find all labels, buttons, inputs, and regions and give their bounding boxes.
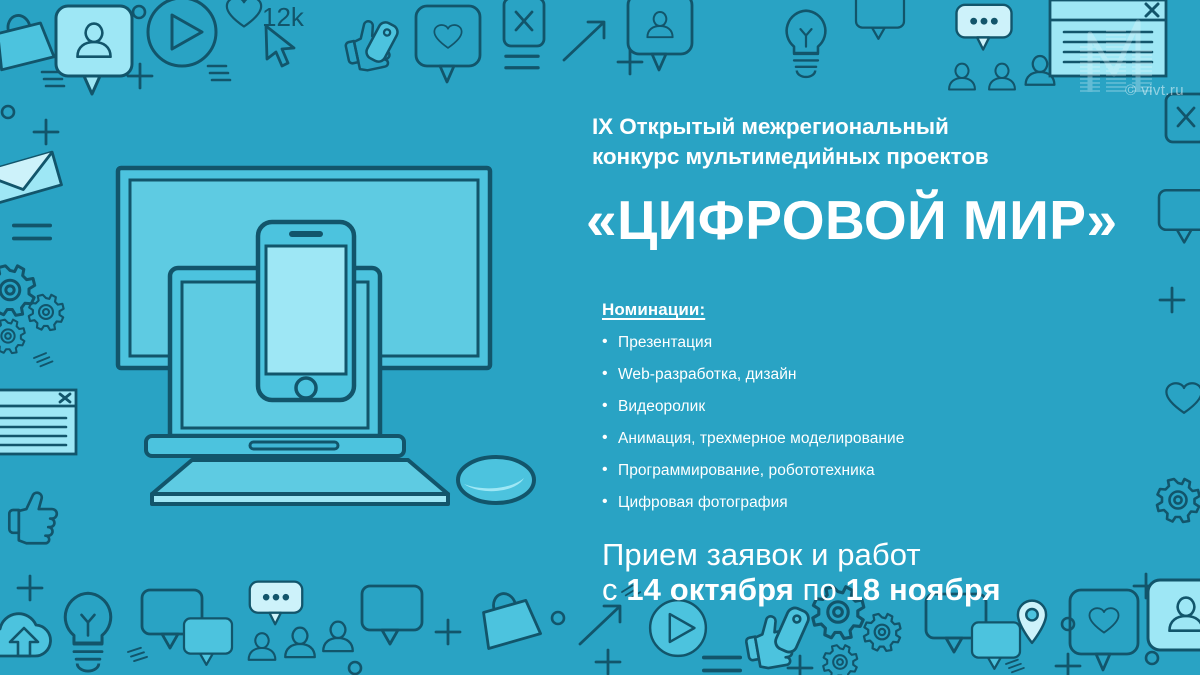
dates-range: с 14 октября по 18 ноября [602, 572, 1152, 607]
list-item: Анимация, трехмерное моделирование [602, 431, 1152, 447]
plus-icon [436, 620, 460, 644]
arrow-up-right-icon [580, 606, 620, 644]
gear-icon [823, 645, 857, 675]
gear-icon [864, 614, 901, 651]
gear-icon [0, 320, 25, 354]
play-circle-icon [650, 600, 706, 656]
cloud-upload-icon [0, 614, 51, 656]
heart-icon [1166, 383, 1200, 413]
thumbs-up-icon [342, 17, 396, 73]
devices-illustration [108, 160, 548, 510]
equals-icon [704, 658, 740, 671]
user-group-icon [989, 64, 1015, 90]
thumbs-up-icon [9, 493, 57, 544]
nominations-list: Презентация Web-разработка, дизайн Видео… [602, 335, 1152, 511]
vivt-logo-mark [1070, 14, 1186, 106]
user-bubble-icon [56, 6, 132, 94]
dates-start: 14 октября [626, 572, 794, 607]
chat-bubble-icon [856, 0, 904, 39]
browser-window-icon [0, 390, 76, 454]
user-group-icon [249, 633, 276, 660]
user-group-icon [949, 64, 975, 90]
dates-end: 18 ноября [846, 572, 1001, 607]
tag-icon [364, 20, 400, 64]
submission-dates: Прием заявок и работ с 14 октября по 18 … [602, 537, 1152, 608]
heart-counter-label: 12k [262, 2, 305, 32]
equals-icon [14, 226, 50, 239]
user-bubble-icon [1148, 580, 1200, 650]
list-item: Программирование, робототехника [602, 463, 1152, 479]
browser-window-icon [1050, 0, 1166, 76]
plus-icon [128, 64, 152, 88]
lightbulb-icon [787, 11, 826, 77]
gear-icon [29, 295, 64, 330]
circle-dot-icon [349, 662, 361, 674]
dots-bubble-icon [250, 582, 302, 625]
heart-icon [227, 0, 261, 26]
equals-icon [506, 56, 538, 68]
speed-lines-icon [1006, 659, 1024, 673]
plus-icon [788, 656, 812, 675]
watermark-text: © vivt.ru [1125, 82, 1184, 99]
chat-bubble-icon [972, 622, 1020, 668]
play-circle-icon [148, 0, 216, 66]
speed-lines-icon [208, 66, 230, 80]
arrow-up-right-icon [564, 22, 604, 60]
mouse-shape [458, 457, 534, 503]
nominations-heading: Номинации: [602, 300, 1152, 320]
list-item: Web-разработка, дизайн [602, 367, 1152, 383]
chat-bubble-icon [142, 590, 202, 648]
thumbs-up-icon [743, 613, 799, 671]
poster: 12k [0, 0, 1200, 675]
event-kicker: IX Открытый межрегиональный конкурс муль… [592, 112, 1152, 171]
smartphone-shape [258, 222, 354, 400]
list-item: Цифровая фотография [602, 495, 1152, 511]
circle-dot-icon [552, 612, 564, 624]
speed-lines-icon [34, 352, 52, 367]
page-title: «ЦИФРОВОЙ МИР» [586, 193, 1152, 248]
gear-icon [0, 266, 35, 315]
plus-icon [1160, 288, 1184, 312]
heart-bubble-icon [416, 6, 480, 82]
devices-svg [108, 160, 548, 510]
circle-dot-icon [1146, 652, 1158, 664]
user-group-icon [1026, 56, 1055, 85]
dates-middle: по [794, 572, 846, 607]
shopping-bag-icon [475, 587, 540, 649]
tag-icon [773, 605, 811, 654]
close-card-icon [504, 0, 544, 46]
list-item: Видеоролик [602, 399, 1152, 415]
plus-icon [34, 120, 58, 144]
speed-lines-icon [128, 647, 147, 662]
circle-dot-icon [133, 6, 145, 18]
keyboard-shape [152, 460, 448, 504]
user-group-icon [323, 622, 353, 652]
shopping-bag-icon [0, 9, 54, 70]
list-item: Презентация [602, 335, 1152, 351]
gear-icon [1157, 479, 1200, 522]
dates-intro: Прием заявок и работ [602, 537, 1152, 572]
close-card-icon [1166, 94, 1200, 142]
dots-bubble-icon [956, 5, 1011, 50]
user-group-icon [285, 628, 315, 658]
chat-bubble-icon [1159, 190, 1200, 242]
plus-icon [18, 576, 42, 600]
nominations-block: Номинации: Презентация Web-разработка, д… [602, 300, 1152, 511]
chat-bubble-icon [362, 586, 422, 644]
chat-bubble-icon [184, 618, 232, 664]
circle-dot-icon [2, 106, 14, 118]
lightbulb-icon [65, 593, 110, 671]
plus-icon [618, 50, 642, 74]
content-column: IX Открытый межрегиональный конкурс муль… [592, 112, 1152, 608]
user-bubble-icon [628, 0, 692, 70]
dates-prefix: с [602, 572, 626, 607]
speed-lines-icon [42, 72, 64, 86]
plus-icon [1056, 654, 1080, 675]
vivt-logo-watermark [1070, 14, 1186, 106]
plus-icon [596, 650, 620, 674]
circle-dot-icon [1062, 618, 1074, 630]
envelope-icon [0, 152, 61, 206]
cursor-arrow-icon [266, 26, 294, 66]
